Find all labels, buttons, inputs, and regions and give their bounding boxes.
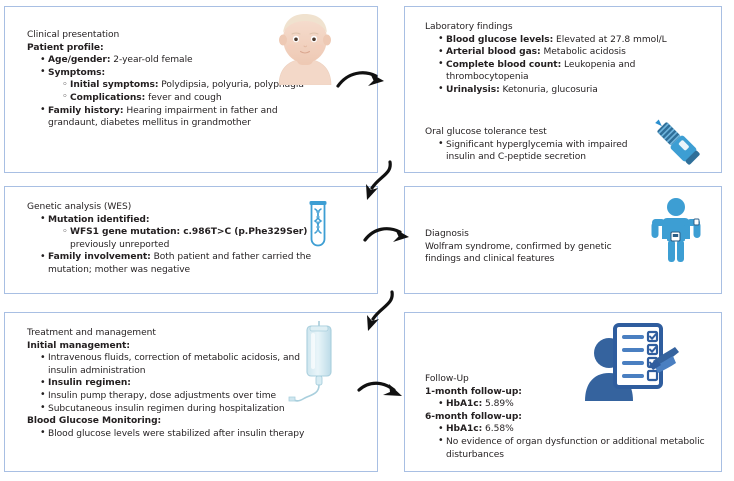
insulin-pen-icon (641, 106, 709, 174)
sub-item-label: Complications: (70, 93, 145, 103)
item-text: 6.58% (482, 424, 513, 434)
genetic-analysis-title: Genetic analysis (WES) (27, 201, 327, 214)
list-item: Blood glucose levels: Elevated at 27.8 m… (438, 34, 687, 47)
list-item: Intravenous fluids, correction of metabo… (40, 352, 317, 377)
treatment-title: Treatment and management (27, 327, 317, 340)
sub-list-item: WFS1 gene mutation: c.986T>C (p.Phe329Se… (62, 226, 327, 251)
arrow-clinical-to-lab (334, 62, 390, 98)
item-label: Insulin regimen: (48, 378, 131, 388)
item-text: Blood glucose levels were stabilized aft… (48, 429, 304, 439)
list-item: Urinalysis: Ketonuria, glucosuria (438, 84, 687, 97)
blood-glucose-monitoring-subtitle: Blood Glucose Monitoring: (27, 415, 317, 428)
item-label: Family involvement: (48, 252, 151, 262)
arrow-diagnosis-to-treatment (352, 286, 402, 338)
list-item: Family involvement: Both patient and fat… (40, 251, 327, 276)
item-text: 2-year-old female (110, 55, 192, 65)
sub-item-text: fever and cough (145, 93, 221, 103)
oral-glucose-tolerance-test-title: Oral glucose tolerance test (425, 126, 640, 139)
treatment-content: Treatment and management Initial managem… (27, 327, 317, 440)
list-item: Blood glucose levels were stabilized aft… (40, 428, 317, 441)
list-item: Insulin pump therapy, dose adjustments o… (40, 390, 317, 403)
box-treatment-and-management: Treatment and management Initial managem… (4, 312, 378, 472)
list-item: Insulin regimen: (40, 377, 317, 390)
sub-list-item: Complications: fever and cough (62, 92, 327, 105)
item-label: HbA1c: (446, 424, 482, 434)
list-item: HbA1c: 6.58% (438, 423, 713, 436)
item-text: Intravenous fluids, correction of metabo… (48, 353, 300, 376)
list-item: Mutation identified: WFS1 gene mutation:… (40, 214, 327, 252)
item-text: Elevated at 27.8 mmol/L (553, 35, 666, 45)
iv-bag-icon (287, 319, 349, 411)
diagnosis-body: Wolfram syndrome, confirmed by genetic f… (425, 241, 630, 266)
arrow-genetic-to-diagnosis (362, 220, 416, 254)
list-item: No evidence of organ dysfunction or addi… (438, 436, 713, 461)
list-item: Arterial blood gas: Metabolic acidosis (438, 46, 687, 59)
diagnosis-content: Diagnosis Wolfram syndrome, confirmed by… (425, 228, 630, 266)
box-clinical-presentation: Clinical presentation Patient profile: A… (4, 6, 378, 173)
patient-figure-icon (645, 195, 707, 263)
test-tube-dna-icon (297, 195, 339, 253)
treatment-subtitle: Initial management: (27, 340, 317, 353)
arrow-treatment-to-followup (356, 372, 412, 406)
item-text: 5.89% (482, 399, 513, 409)
laboratory-findings-title: Laboratory findings (425, 21, 687, 34)
item-label: Complete blood count: (446, 60, 561, 70)
baby-icon (269, 9, 341, 85)
item-label: Arterial blood gas: (446, 47, 541, 57)
sub-item-label: WFS1 gene mutation: c.986T>C (p.Phe329Se… (70, 227, 307, 237)
diagnosis-title: Diagnosis (425, 228, 630, 241)
genetic-analysis-content: Genetic analysis (WES) Mutation identifi… (27, 201, 327, 277)
item-label: Family history: (48, 106, 124, 116)
list-item: Significant hyperglycemia with impaired … (438, 139, 640, 164)
sub-item-label: Initial symptoms: (70, 80, 158, 90)
item-text: Significant hyperglycemia with impaired … (446, 140, 628, 163)
list-item: Family history: Hearing impairment in fa… (40, 105, 327, 130)
figure-canvas: Clinical presentation Patient profile: A… (0, 0, 734, 481)
list-item: Complete blood count: Leukopenia and thr… (438, 59, 687, 84)
oral-glucose-tolerance-test-content: Oral glucose tolerance test Significant … (425, 126, 640, 164)
item-label: HbA1c: (446, 399, 482, 409)
item-text: Insulin pump therapy, dose adjustments o… (48, 391, 276, 401)
item-label: Symptoms: (48, 68, 105, 78)
six-month-follow-up-subtitle: 6-month follow-up: (425, 411, 713, 424)
box-diagnosis: Diagnosis Wolfram syndrome, confirmed by… (404, 186, 722, 294)
item-label: Age/gender: (48, 55, 110, 65)
arrow-lab-to-genetic (352, 156, 400, 206)
item-text: Ketonuria, glucosuria (500, 85, 598, 95)
box-follow-up: Follow-Up 1-month follow-up: HbA1c: 5.89… (404, 312, 722, 472)
laboratory-findings-content: Laboratory findings Blood glucose levels… (425, 21, 687, 97)
list-item: Subcutaneous insulin regimen during hosp… (40, 403, 317, 416)
item-label: Mutation identified: (48, 215, 149, 225)
item-label: Blood glucose levels: (446, 35, 553, 45)
box-laboratory-findings: Laboratory findings Blood glucose levels… (404, 6, 722, 173)
item-text: No evidence of organ dysfunction or addi… (446, 437, 705, 460)
item-text: Subcutaneous insulin regimen during hosp… (48, 404, 285, 414)
checklist-person-icon (569, 315, 681, 407)
item-text: Metabolic acidosis (541, 47, 626, 57)
box-genetic-analysis: Genetic analysis (WES) Mutation identifi… (4, 186, 378, 294)
item-label: Urinalysis: (446, 85, 500, 95)
